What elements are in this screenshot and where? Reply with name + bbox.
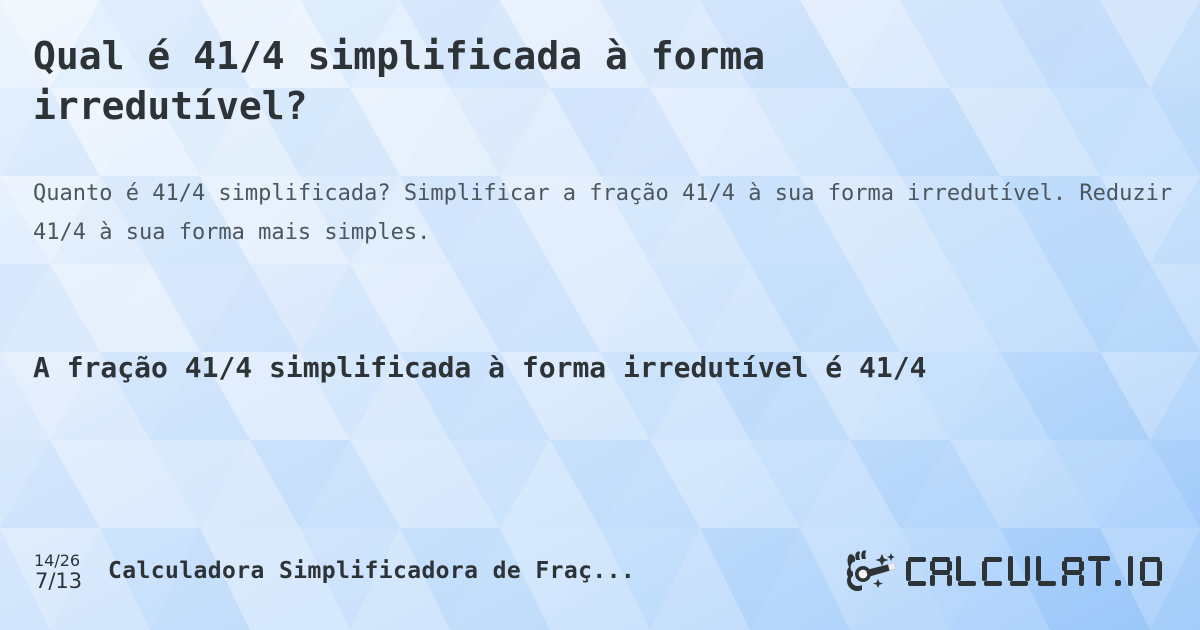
share-card: Qual é 41/4 simplificada à forma irredut…: [0, 0, 1200, 630]
footer: 14/26 7/13 Calculadora Simplificadora de…: [0, 545, 1200, 605]
fraction-unsimplified-label: 14/26: [34, 552, 80, 570]
brand-wordmark: [906, 549, 1178, 595]
page-title: Qual é 41/4 simplificada à forma irredut…: [33, 31, 1033, 131]
brand-logo[interactable]: [842, 546, 1178, 598]
footer-site-name: Calculadora Simplificadora de Fraç...: [108, 557, 635, 585]
page-subtitle: Quanto é 41/4 simplificada? Simplificar …: [33, 174, 1173, 252]
hand-magic-wand-icon: [842, 549, 904, 595]
fraction-simplified-label: 7/13: [35, 569, 82, 593]
footer-site-link[interactable]: 14/26 7/13 Calculadora Simplificadora de…: [33, 545, 635, 597]
fraction-simplify-icon: 14/26 7/13: [33, 547, 95, 595]
answer-text: A fração 41/4 simplificada à forma irred…: [33, 345, 1173, 390]
